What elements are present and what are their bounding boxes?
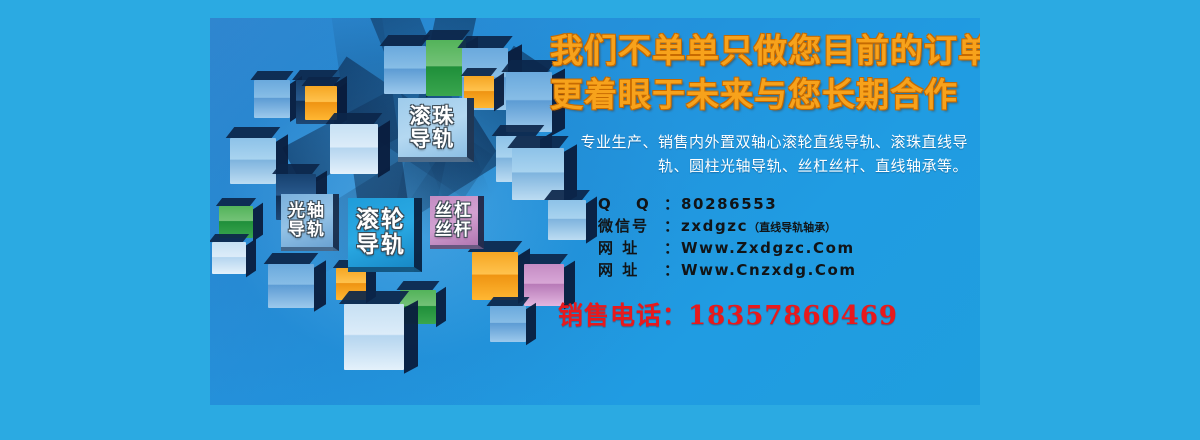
headline-line-1: 我们不单单只做您目前的订单 — [550, 30, 970, 72]
product-box-gunzhu-daogui[interactable]: 滚珠 导轨 — [398, 98, 474, 162]
cube-side-face — [494, 73, 504, 112]
contact-value-qq[interactable]: 80286553 — [681, 193, 777, 215]
headline-line-2: 更着眼于未来与您长期合作 — [550, 74, 970, 116]
product-box-line1: 滚珠 — [410, 105, 456, 127]
cube-side-face — [253, 203, 263, 242]
product-box-line2: 丝杆 — [435, 221, 473, 239]
cube-front-face — [212, 242, 246, 274]
product-box-sigang-sigan[interactable]: 丝杠 丝杆 — [430, 196, 484, 249]
decorative-cube — [344, 304, 404, 370]
decorative-cube — [254, 80, 290, 118]
cube-top-face — [422, 30, 470, 40]
cube-front-face — [344, 304, 404, 370]
contact-row-website-2: 网 址 ： Www.Cnzxdg.Com — [598, 259, 970, 281]
banner-stage: 滚珠 导轨 光轴 导轨 滚轮 导轨 丝杠 丝杆 我们不单单只做您目前的订单 更着… — [0, 0, 1200, 440]
cube-top-face — [339, 291, 409, 304]
cube-front-face — [490, 306, 526, 342]
cube-top-face — [264, 253, 319, 264]
decorative-cube — [472, 252, 518, 300]
contact-colon: ： — [664, 215, 679, 237]
banner-panel: 滚珠 导轨 光轴 导轨 滚轮 导轨 丝杠 丝杆 我们不单单只做您目前的订单 更着… — [210, 18, 980, 405]
cube-front-face — [268, 264, 314, 308]
cube-top-face — [396, 281, 439, 290]
product-box-line2: 导轨 — [410, 128, 456, 150]
contact-row-website-1: 网 址 ： Www.Zxdgzc.Com — [598, 237, 970, 259]
cube-front-face — [230, 138, 276, 184]
product-box-line1: 滚轮 — [356, 208, 406, 232]
contact-value-wechat[interactable]: zxdgzc — [681, 215, 748, 237]
sales-phone-block[interactable]: 销售电话：18357860469 — [550, 296, 970, 332]
contact-colon: ： — [664, 237, 679, 259]
contact-row-wechat: 微信号 ： zxdgzc （直线导轨轴承） — [598, 215, 970, 237]
contact-value-website-2[interactable]: Www.Cnzxdg.Com — [681, 259, 857, 281]
cube-top-face — [216, 198, 256, 206]
product-box-line2: 导轨 — [356, 233, 406, 257]
contact-row-qq: Q Q ： 80286553 — [598, 193, 970, 215]
contact-label-qq: Q Q — [598, 193, 664, 215]
contact-info-block: Q Q ： 80286553 微信号 ： zxdgzc （直线导轨轴承） 网 址… — [550, 193, 970, 282]
cube-side-face — [314, 260, 326, 311]
contact-colon: ： — [664, 259, 679, 281]
cube-top-face — [486, 297, 529, 306]
cube-top-face — [210, 234, 249, 242]
cube-top-face — [250, 71, 293, 80]
cube-front-face — [384, 46, 426, 94]
cube-front-face — [254, 80, 290, 118]
decorative-cube — [506, 72, 552, 132]
contact-note-wechat: （直线导轨轴承） — [748, 220, 836, 236]
product-box-gunlun-daogui[interactable]: 滚轮 导轨 — [348, 198, 422, 272]
product-box-line1: 丝杠 — [435, 202, 473, 220]
cube-side-face — [404, 300, 418, 373]
sales-phone-number[interactable]: 18357860469 — [688, 301, 898, 331]
cube-top-face — [492, 125, 545, 136]
cube-top-face — [461, 68, 497, 76]
cube-top-face — [226, 127, 281, 138]
product-box-guangzhou-daogui[interactable]: 光轴 导轨 — [281, 194, 339, 251]
cube-side-face — [246, 239, 256, 278]
cube-top-face — [457, 36, 512, 48]
cube-top-face — [272, 164, 320, 174]
cube-side-face — [378, 120, 390, 177]
contact-colon: ： — [664, 193, 679, 215]
contact-label-website-2: 网 址 — [598, 259, 664, 281]
contact-label-wechat: 微信号 — [598, 215, 664, 237]
sales-phone-label: 销售电话： — [558, 301, 688, 330]
decorative-cube — [330, 124, 378, 174]
cube-side-face — [436, 287, 446, 327]
cube-front-face — [506, 72, 552, 132]
decorative-cube — [384, 46, 426, 94]
decorative-cube — [230, 138, 276, 184]
company-description: 专业生产、销售内外置双轴心滚轮直线导轨、滚珠直线导轨、圆柱光轴导轨、丝杠丝杆、直… — [550, 131, 970, 178]
cube-side-face — [526, 303, 536, 345]
decorative-cube — [426, 40, 466, 96]
decorative-cube — [268, 264, 314, 308]
decorative-cube — [490, 306, 526, 342]
cube-top-face — [380, 35, 431, 46]
product-box-line1: 光轴 — [288, 202, 326, 220]
cube-top-face — [326, 113, 383, 124]
product-box-line2: 导轨 — [288, 221, 326, 239]
contact-label-website-1: 网 址 — [598, 237, 664, 259]
cube-front-face — [330, 124, 378, 174]
banner-text-column: 我们不单单只做您目前的订单 更着眼于未来与您长期合作 专业生产、销售内外置双轴心… — [550, 30, 970, 332]
cube-front-face — [426, 40, 466, 96]
cube-front-face — [472, 252, 518, 300]
cube-top-face — [501, 60, 556, 72]
decorative-cube — [212, 242, 246, 274]
contact-value-website-1[interactable]: Www.Zxdgzc.Com — [681, 237, 855, 259]
